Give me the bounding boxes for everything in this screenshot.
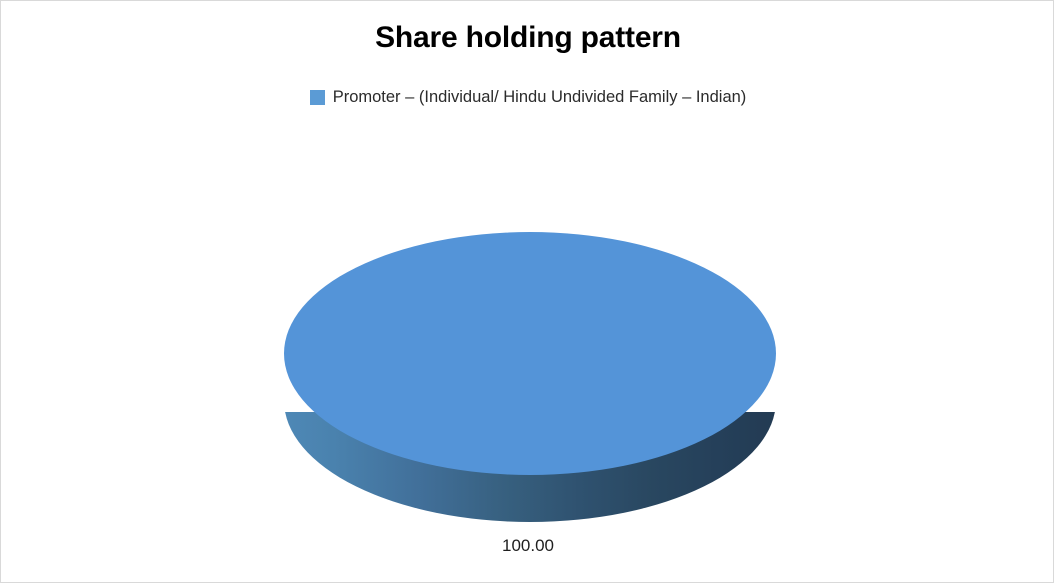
pie-chart-3d[interactable] <box>284 232 776 522</box>
chart-title: Share holding pattern <box>1 19 1054 57</box>
legend-color-swatch-icon <box>310 90 325 105</box>
pie-data-label: 100.00 <box>1 534 1054 558</box>
pie-slice-promoter-top[interactable] <box>284 232 776 475</box>
chart-container: Share holding pattern Promoter – (Indivi… <box>0 0 1054 583</box>
legend-item-label: Promoter – (Individual/ Hindu Undivided … <box>333 86 747 108</box>
chart-legend: Promoter – (Individual/ Hindu Undivided … <box>1 86 1054 108</box>
legend-item-promoter[interactable]: Promoter – (Individual/ Hindu Undivided … <box>310 86 747 108</box>
